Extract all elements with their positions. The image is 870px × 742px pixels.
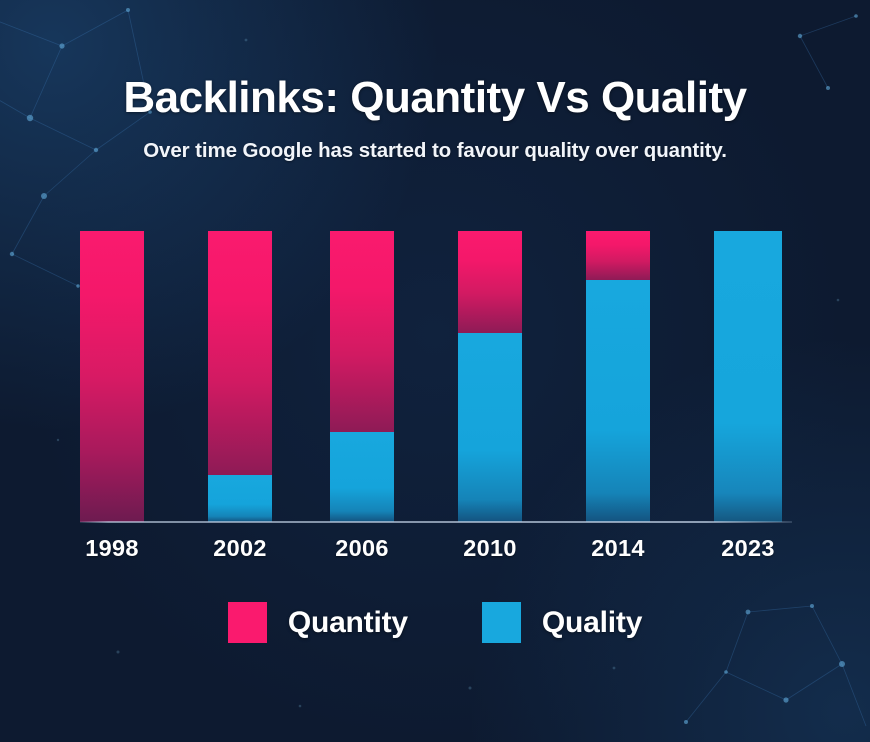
chart-legend: Quantity Quality [0, 602, 870, 643]
bar-segment-quality [714, 231, 782, 522]
bar-stack [330, 231, 394, 522]
x-axis-line [80, 521, 792, 523]
chart-header: Backlinks: Quantity Vs Quality Over time… [0, 0, 870, 163]
legend-swatch-quantity-icon [228, 602, 267, 643]
x-tick-label-2010: 2010 [450, 535, 530, 562]
x-tick-label-1998: 1998 [72, 535, 152, 562]
legend-item-quality[interactable]: Quality [482, 602, 642, 643]
legend-label-quality: Quality [542, 606, 642, 640]
bar-2023 [714, 231, 782, 522]
bar-segment-quality [208, 475, 272, 522]
chart-page: Backlinks: Quantity Vs Quality Over time… [0, 0, 870, 742]
legend-label-quantity: Quantity [288, 606, 408, 640]
bar-2014 [586, 231, 650, 522]
bar-1998 [80, 231, 144, 522]
bar-segment-quality [330, 432, 394, 522]
bar-2010 [458, 231, 522, 522]
bar-2002 [208, 231, 272, 522]
bar-stack [80, 231, 144, 522]
x-tick-label-2006: 2006 [322, 535, 402, 562]
bar-segment-quantity [80, 231, 144, 522]
bar-segment-quantity [330, 231, 394, 432]
bar-2006 [330, 231, 394, 522]
x-tick-label-2002: 2002 [200, 535, 280, 562]
x-tick-label-2014: 2014 [578, 535, 658, 562]
bar-chart-plot-area [80, 231, 792, 522]
legend-item-quantity[interactable]: Quantity [228, 602, 408, 643]
bar-stack [458, 231, 522, 522]
bar-stack [586, 231, 650, 522]
bar-segment-quantity [208, 231, 272, 475]
page-title: Backlinks: Quantity Vs Quality [0, 76, 870, 120]
bar-segment-quantity [458, 231, 522, 333]
bar-segment-quality [586, 280, 650, 522]
legend-swatch-quality-icon [482, 602, 521, 643]
x-axis-tick-labels: 199820022006201020142023 [80, 535, 792, 569]
x-tick-label-2023: 2023 [706, 535, 790, 562]
bar-stack [208, 231, 272, 522]
page-subtitle: Over time Google has started to favour q… [0, 139, 870, 163]
bar-segment-quality [458, 333, 522, 522]
bar-segment-quantity [586, 231, 650, 280]
bar-stack [714, 231, 782, 522]
